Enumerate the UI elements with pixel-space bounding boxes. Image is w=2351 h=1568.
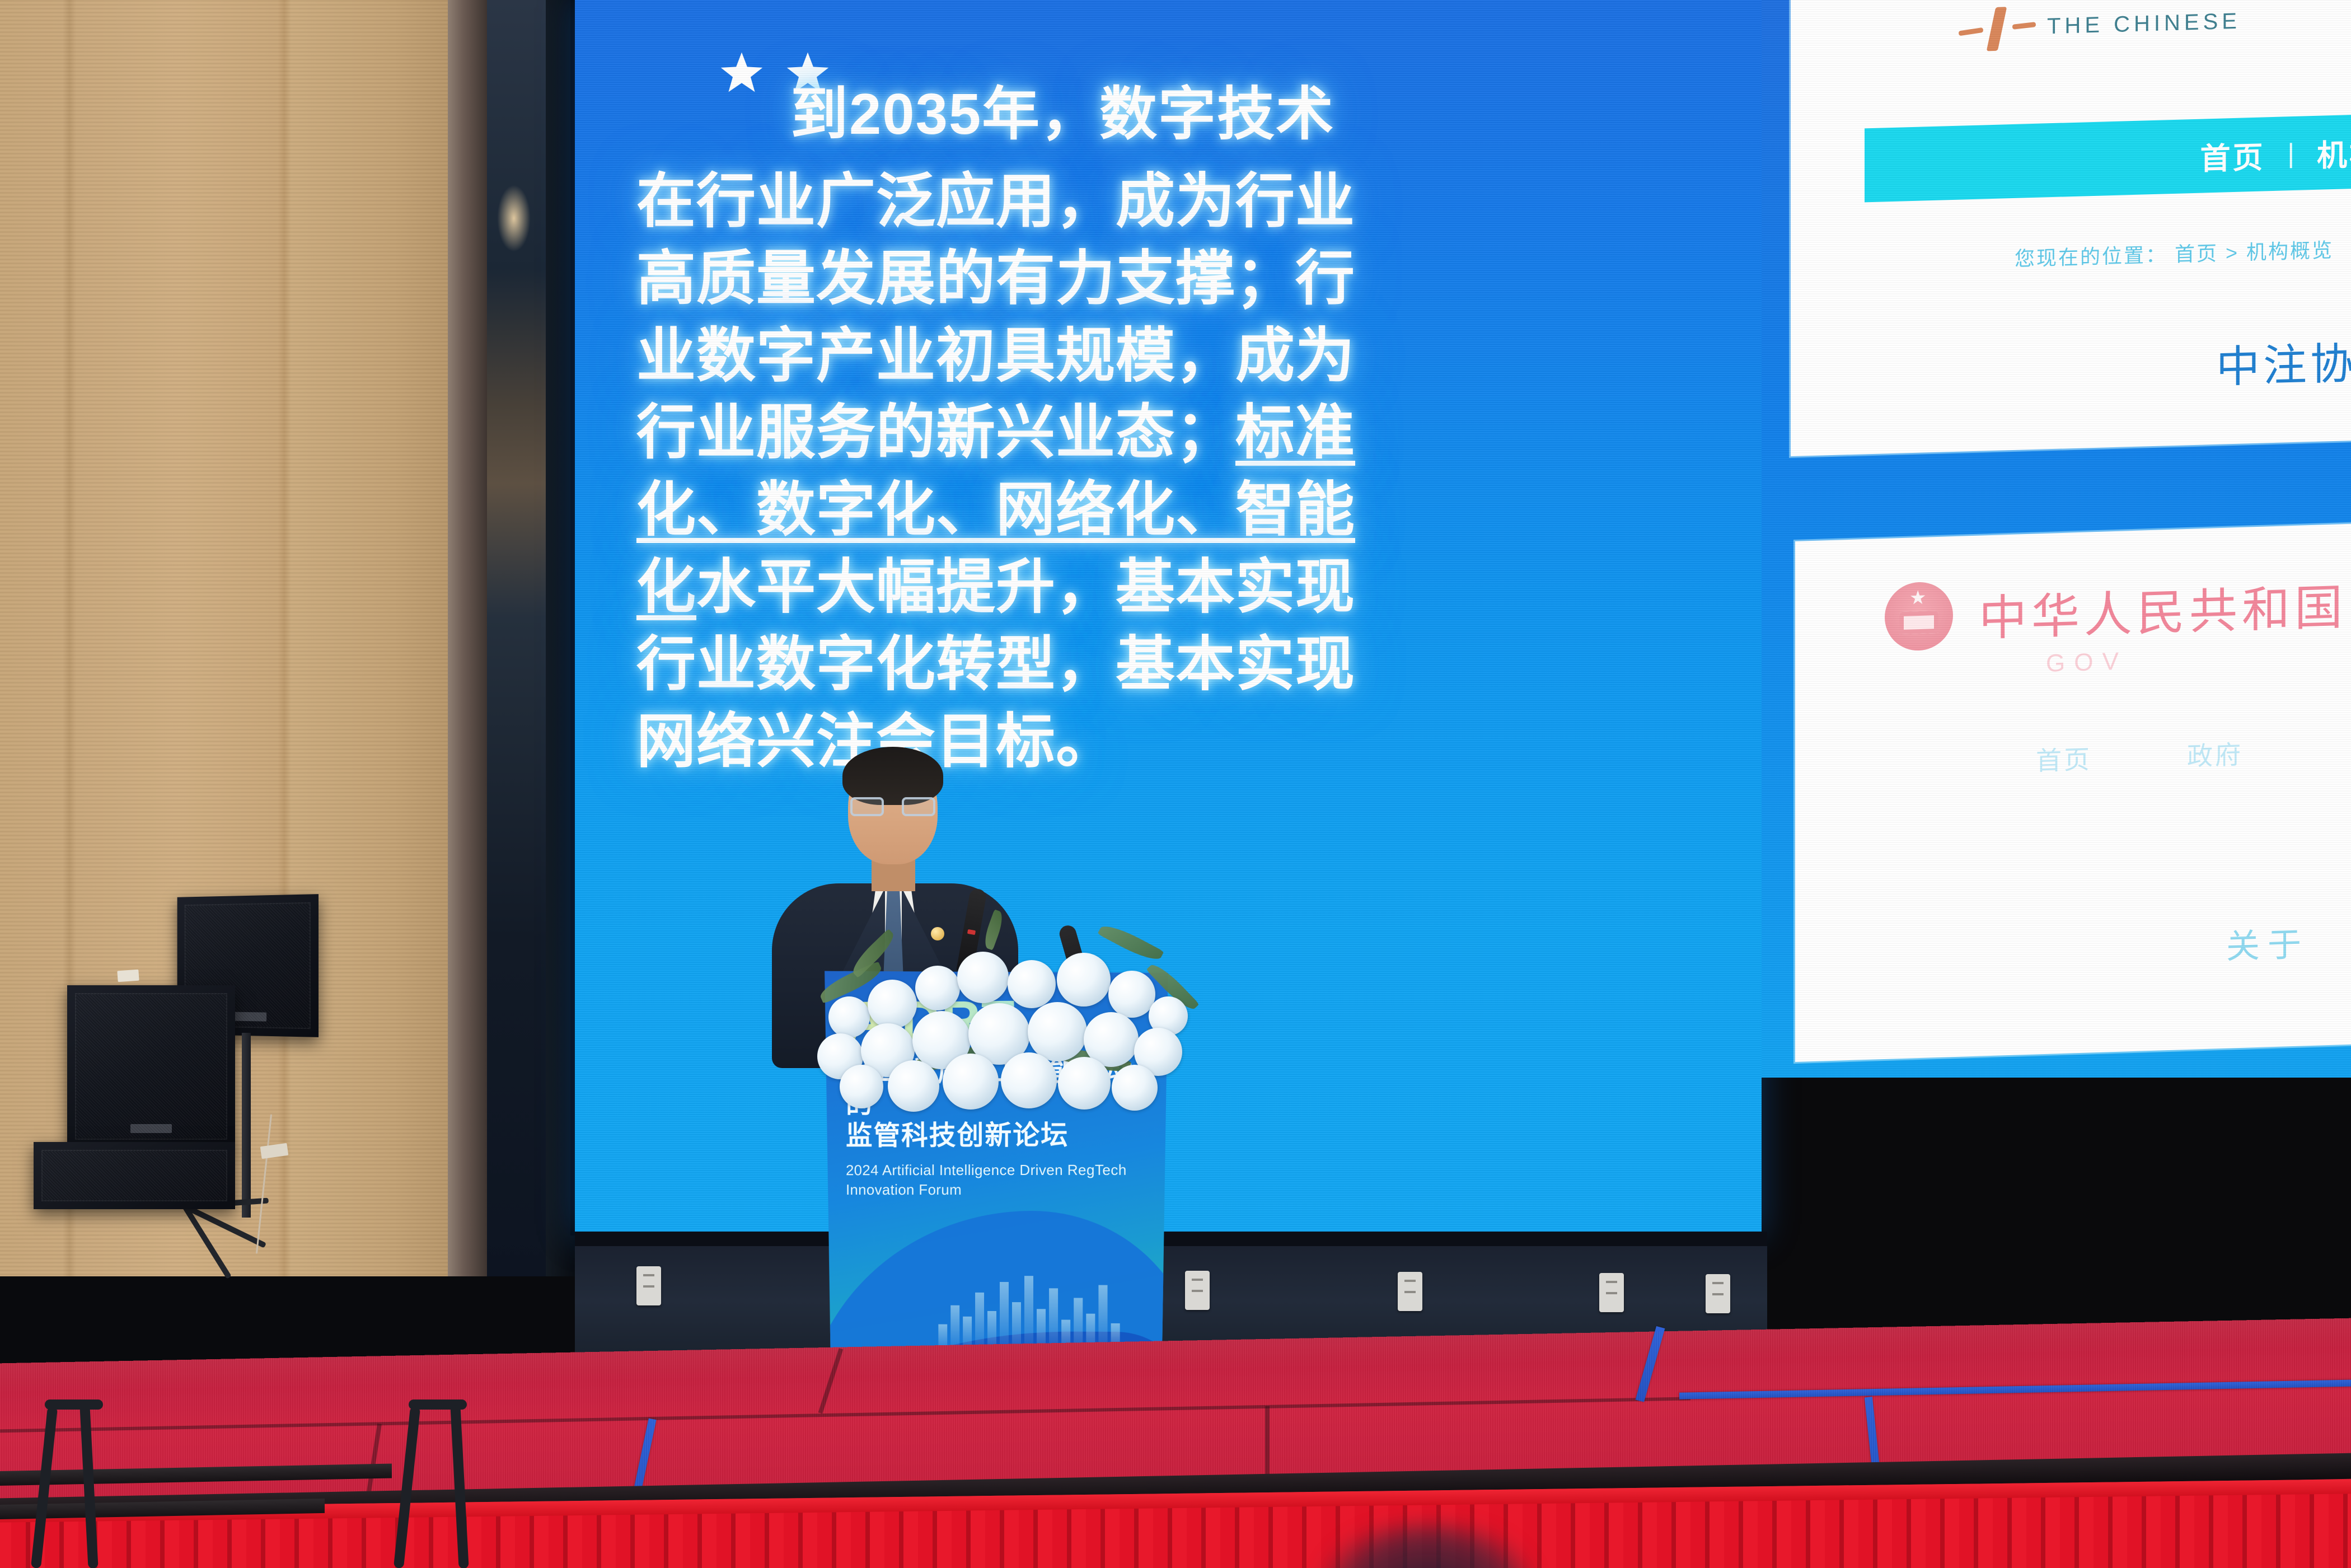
nav-separator: | xyxy=(2288,138,2294,168)
gov-nav-item-home[interactable]: 首页 xyxy=(2036,739,2092,778)
wall-outlet xyxy=(1398,1272,1422,1311)
org-logo: THE CHINESE xyxy=(1959,0,2351,53)
slide-line-part: 水平大幅提升，基本实现 xyxy=(696,554,1355,620)
wall-outlet xyxy=(1599,1273,1624,1312)
national-emblem-icon xyxy=(1885,581,1953,652)
slide-title: 到2035年，数字技术 xyxy=(790,67,1664,151)
website-card-bottom: 中华人民共和国 GOV 首页 政府 关于 xyxy=(1795,522,2351,1062)
slide-line: 业数字产业初具规模，成为 xyxy=(636,318,1689,395)
slide-line-emphasis: 化、数字化、网络化、智能 xyxy=(636,472,1689,549)
speaker-label-tag xyxy=(117,970,139,982)
slide-line: 高质量发展的有力支撑；行 xyxy=(636,241,1689,318)
slide-line: 行业服务的新兴业态；标准 xyxy=(636,395,1689,472)
breadcrumb: 您现在的位置： 首页 > 机构概览 xyxy=(2015,234,2334,272)
org-mark-icon xyxy=(1959,3,2031,53)
wall-outlet xyxy=(1706,1274,1730,1313)
forum-name-en: 2024 Artificial Intelligence Driven RegT… xyxy=(846,1160,1154,1200)
forum-name-cn-line2: 监管科技创新论坛 xyxy=(846,1120,1154,1152)
slide-line: 化水平大幅提升，基本实现 xyxy=(636,549,1689,626)
nav-item-home[interactable]: 首页 xyxy=(2200,132,2265,178)
eyeglasses-icon xyxy=(850,797,935,816)
glass-pillar xyxy=(487,0,546,1344)
brand-wordmark: AIDRT xyxy=(846,991,1154,1049)
slide-line-part: 行业服务的新兴业态； xyxy=(636,400,1235,466)
gov-nav-bar[interactable]: 首页 政府 xyxy=(2036,734,2243,778)
slide-line-emphasis: 标准 xyxy=(1235,400,1355,466)
conference-stage-photo: 到2035年，数字技术 在行业广泛应用，成为行业 高质量发展的有力支撑；行 业数… xyxy=(0,0,2351,1568)
star-icon xyxy=(720,52,763,94)
nav-item-overview[interactable]: 机构概览 xyxy=(2317,127,2351,175)
slide-body: 在行业广泛应用，成为行业 高质量发展的有力支撑；行 业数字产业初具规模，成为 行… xyxy=(636,163,1689,780)
forum-name-en-line2: Innovation Forum xyxy=(846,1180,1154,1200)
forum-name-cn-line1: 2024首届人工智能驱动的 xyxy=(846,1056,1154,1121)
stair-handrail-top-left xyxy=(45,1400,103,1410)
gov-header: 中华人民共和国 xyxy=(1885,568,2347,652)
slide-line: 行业数字化转型，基本实现 xyxy=(636,626,1689,704)
org-english-name: THE CHINESE xyxy=(2047,8,2241,39)
slide-line-emphasis: 化 xyxy=(636,554,696,620)
pa-speaker xyxy=(67,985,235,1148)
website-card-top: THE CHINESE 首页 | 机构概览 您现在的位置： 首页 > 机构概览 … xyxy=(1791,0,2351,456)
wall-outlet xyxy=(636,1266,661,1305)
hair xyxy=(842,747,943,805)
gov-site-title: 中华人民共和国 xyxy=(1979,568,2347,649)
gov-footer-text: 关于 xyxy=(2226,917,2309,968)
lapel-pin xyxy=(931,927,944,940)
slide-line: 在行业广泛应用，成为行业 xyxy=(636,163,1689,241)
site-nav-bar[interactable]: 首页 | 机构概览 xyxy=(1865,112,2351,202)
wall-edge-strip xyxy=(448,0,487,1344)
subwoofer xyxy=(34,1142,235,1209)
gov-nav-item-gov[interactable]: 政府 xyxy=(2187,734,2243,773)
wall-outlet xyxy=(1185,1271,1210,1310)
lectern-branding: AIDRT 2024首届人工智能驱动的 监管科技创新论坛 2024 Artifi… xyxy=(846,991,1154,1200)
secondary-led-screen[interactable]: THE CHINESE 首页 | 机构概览 您现在的位置： 首页 > 机构概览 … xyxy=(1762,0,2351,1078)
gov-site-subtitle: GOV xyxy=(2046,647,2128,678)
page-title: 中注协 xyxy=(2216,329,2351,395)
forum-name-en-line1: 2024 Artificial Intelligence Driven RegT… xyxy=(846,1160,1154,1181)
